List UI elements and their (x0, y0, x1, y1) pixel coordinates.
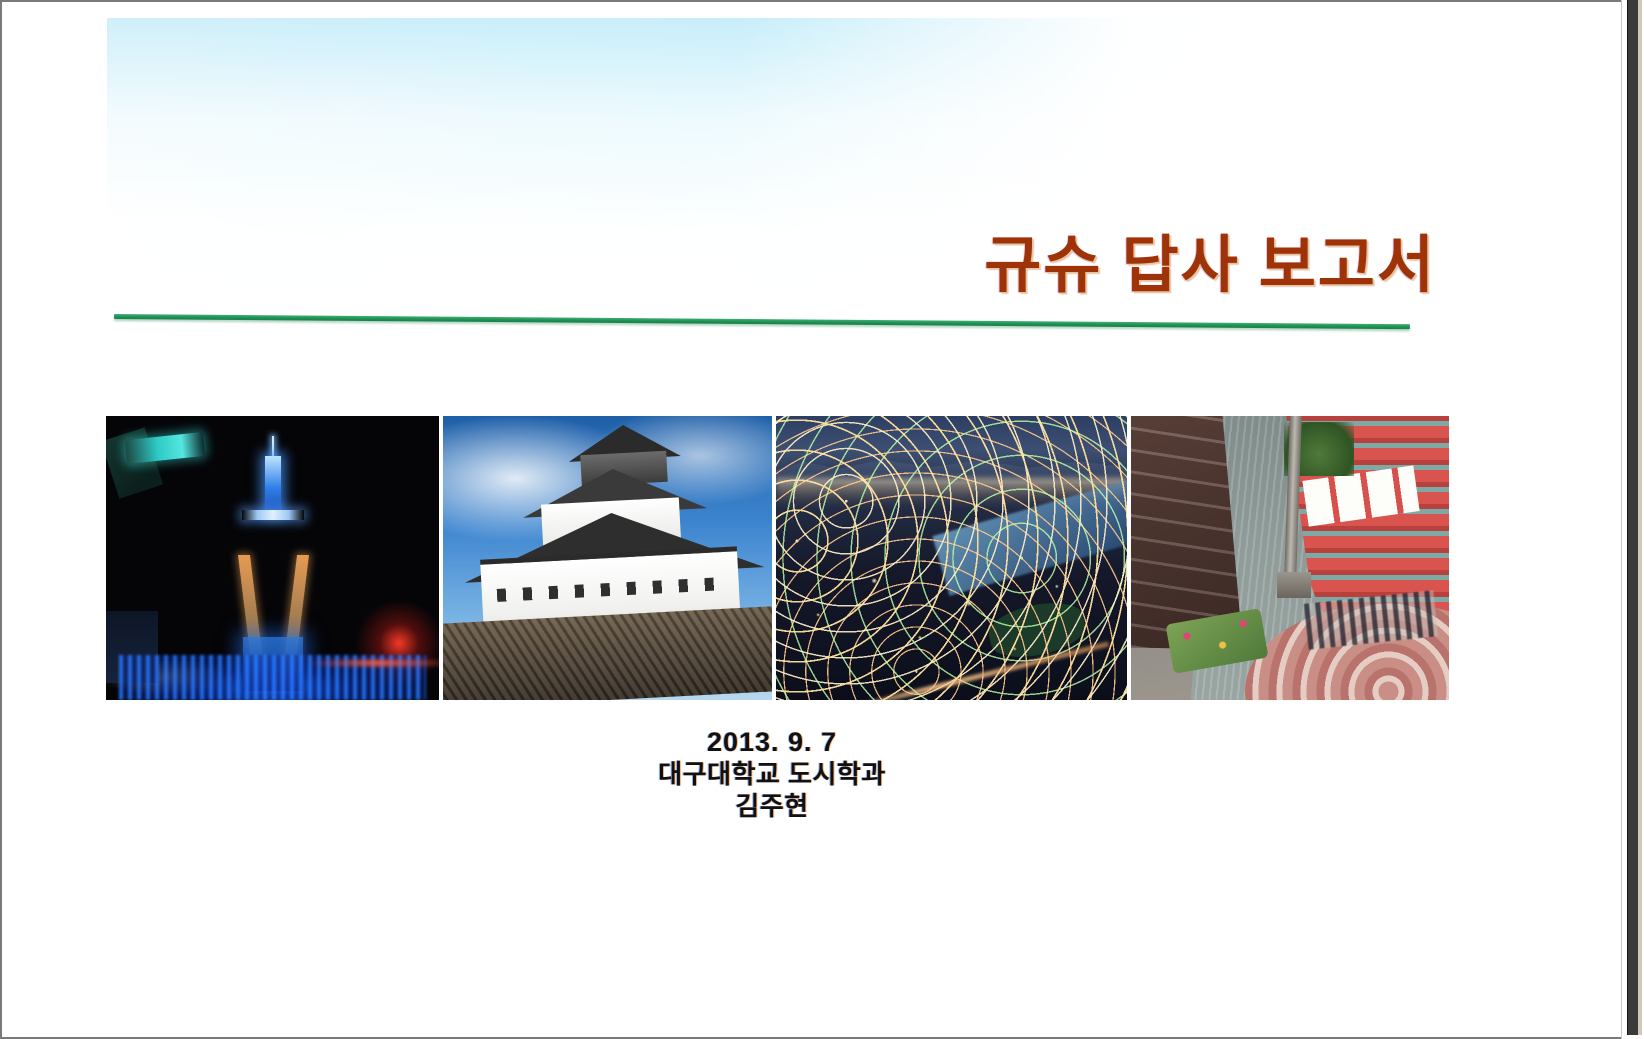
author-name: 김주현 (2, 790, 1542, 822)
vertical-scrollbar[interactable] (1621, 0, 1644, 1039)
affiliation-line: 대구대학교 도시학과 (2, 758, 1542, 790)
photo-strip (106, 416, 1449, 700)
title-footer-block: 2013. 9. 7 대구대학교 도시학과 김주현 (2, 726, 1542, 822)
red-light-flare (309, 660, 439, 666)
city-lights (776, 416, 1127, 700)
title-divider (114, 302, 1410, 332)
presentation-date: 2013. 9. 7 (2, 726, 1542, 758)
tower-observation-deck (242, 510, 304, 520)
center-pole-base (1277, 572, 1311, 598)
tower-upper-section (265, 456, 281, 514)
document-viewer: 규슈 답사 보고서 (0, 0, 1644, 1039)
slide-canvas: 규슈 답사 보고서 (2, 2, 1624, 1037)
scrollbar-track-highlight (1638, 0, 1642, 1035)
photo-canal-city (1131, 416, 1449, 700)
photo-city-nightview (776, 416, 1127, 700)
photo-fukuoka-tower (106, 416, 439, 700)
page-title: 규슈 답사 보고서 (984, 214, 1436, 304)
photo-castle (443, 416, 772, 700)
